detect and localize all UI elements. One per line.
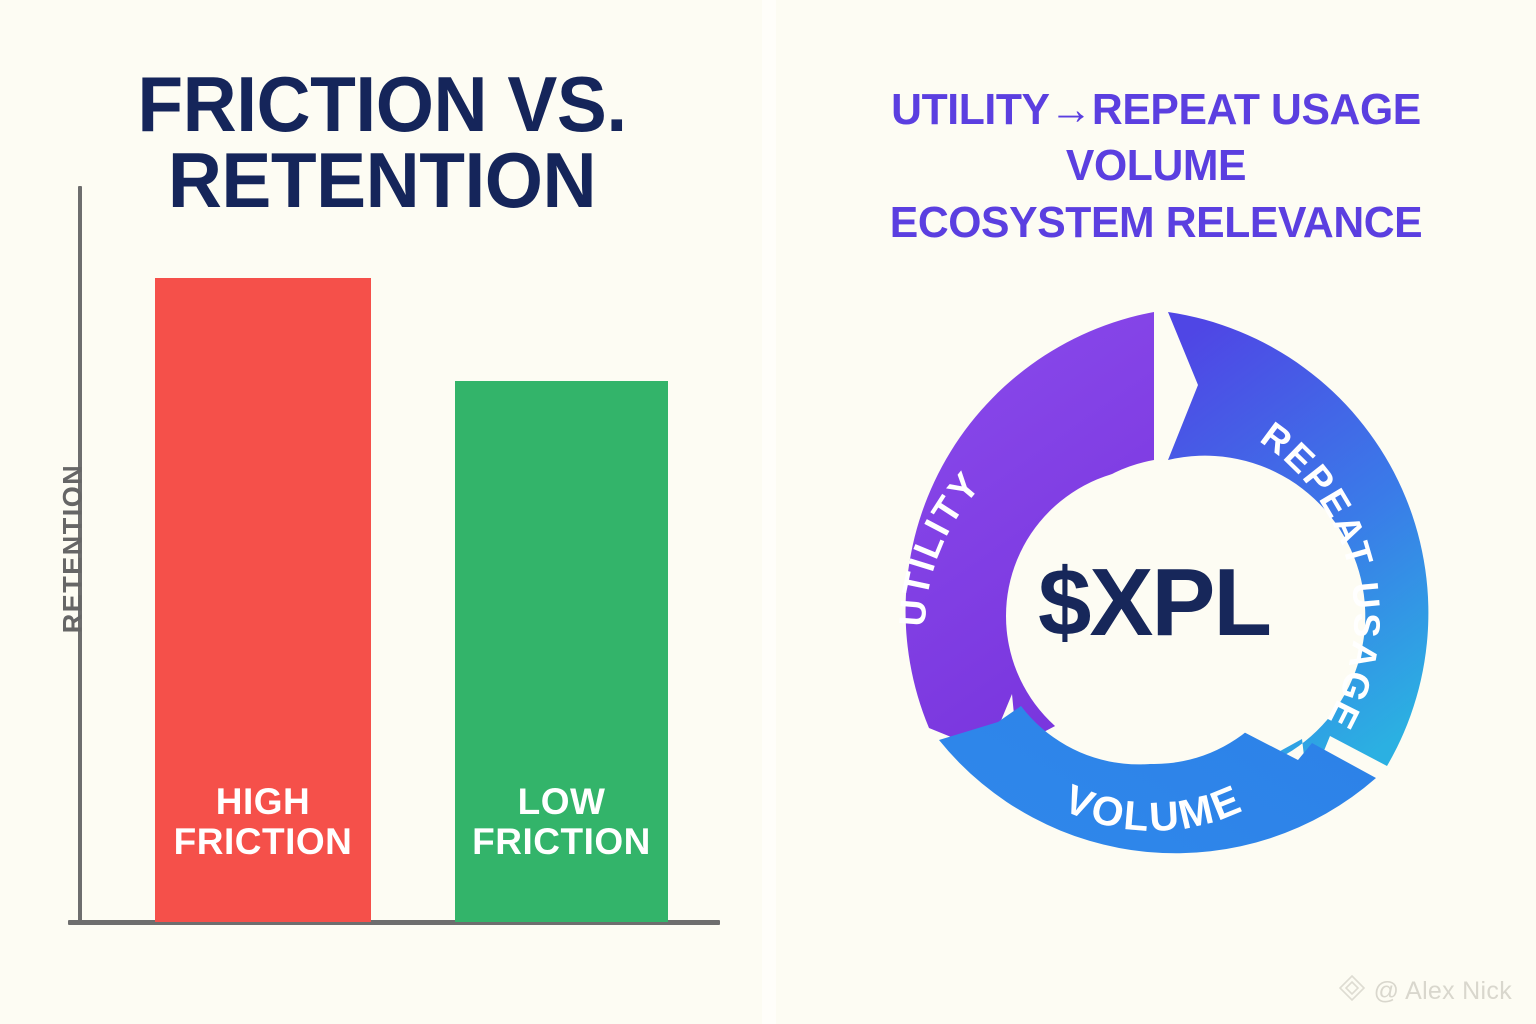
left-panel-friction-vs-retention: FRICTION VS.RETENTION RETENTION HIGH FRI… (0, 0, 762, 1024)
bar-label-low-friction: LOW FRICTION (455, 782, 668, 862)
cycle-heading-line-2: VOLUME (797, 138, 1515, 194)
cycle-diagram: UTILITY REPEAT USAGE VOLUME $XPL (838, 300, 1470, 932)
bar-low-friction: LOW FRICTION (455, 381, 668, 922)
bar-label-high-friction: HIGH FRICTION (155, 782, 371, 862)
watermark-text: @ Alex Nick (1374, 977, 1512, 1006)
panel-divider (762, 0, 776, 1024)
bar-high-friction: HIGH FRICTION (155, 278, 371, 922)
infographic-canvas: FRICTION VS.RETENTION RETENTION HIGH FRI… (0, 0, 1536, 1024)
cycle-heading-line-1: UTILITY→REPEAT USAGE (797, 82, 1515, 138)
cycle-heading-line-3: ECOSYSTEM RELEVANCE (797, 195, 1515, 251)
bar-chart: RETENTION HIGH FRICTION LOW FRICTION (0, 0, 762, 1024)
bar-label-high-friction-line-1: HIGH (216, 781, 311, 822)
y-axis-label: RETENTION (58, 399, 89, 699)
bar-label-low-friction-line-2: FRICTION (472, 821, 651, 862)
center-token-label: $XPL (838, 555, 1470, 651)
right-panel-utility-cycle: UTILITY→REPEAT USAGE VOLUME ECOSYSTEM RE… (776, 0, 1536, 1024)
bar-label-high-friction-line-2: FRICTION (174, 821, 353, 862)
watermark: @ Alex Nick (1337, 973, 1512, 1010)
bar-label-low-friction-line-1: LOW (518, 781, 606, 822)
diamond-gem-icon (1337, 973, 1367, 1010)
cycle-heading: UTILITY→REPEAT USAGE VOLUME ECOSYSTEM RE… (797, 82, 1515, 251)
